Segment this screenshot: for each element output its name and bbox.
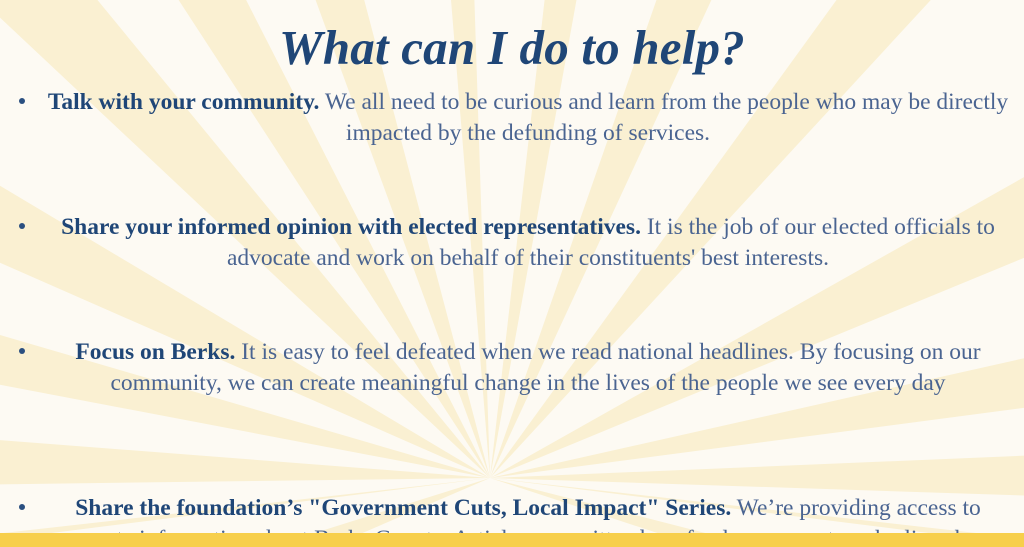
bullet-dot-icon (19, 223, 25, 229)
bullet-body-text: It is easy to feel defeated when we read… (111, 339, 981, 396)
list-item: Talk with your community. We all need to… (0, 87, 1024, 148)
bullet-dot-icon (19, 504, 25, 510)
bullet-dot-icon (19, 348, 25, 354)
bullet-lead-text: Share your informed opinion with elected… (61, 214, 641, 240)
slide-canvas: What can I do to help? Talk with your co… (0, 0, 1024, 547)
help-actions-list: Talk with your community. We all need to… (0, 87, 1024, 547)
list-item: Share your informed opinion with elected… (0, 212, 1024, 273)
bullet-lead-text: Talk with your community. (48, 89, 320, 115)
slide-content: What can I do to help? Talk with your co… (0, 0, 1024, 547)
page-title: What can I do to help? (0, 0, 1024, 73)
bullet-dot-icon (19, 98, 25, 104)
bullet-body-text: We all need to be curious and learn from… (319, 89, 1008, 146)
accent-bar (0, 533, 1024, 547)
bullet-lead-text: Share the foundation’s "Government Cuts,… (75, 495, 731, 521)
bullet-lead-text: Focus on Berks. (75, 339, 235, 365)
list-item: Focus on Berks. It is easy to feel defea… (0, 337, 1024, 398)
